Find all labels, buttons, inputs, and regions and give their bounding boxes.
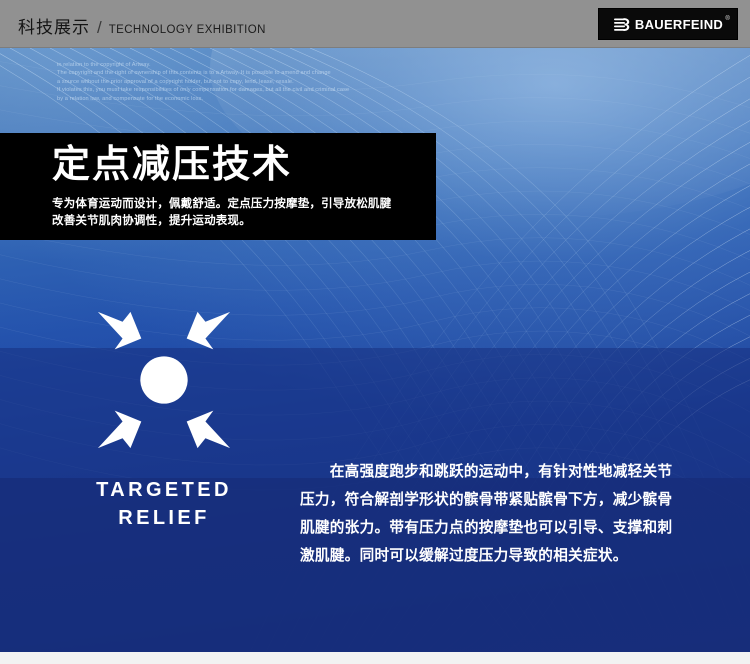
feature-icon-block: TARGETED RELIEF [78,306,250,532]
brand-logo: BAUERFEIND ® [598,8,738,40]
headline-box: 定点减压技术 专为体育运动而设计，佩戴舒适。定点压力按摩垫，引导放松肌腱 改善关… [0,133,436,240]
feature-description: 在高强度跑步和跳跃的运动中，有针对性地减轻关节 压力，符合解剖学形状的髌骨带紧贴… [300,458,694,570]
brand-name: BAUERFEIND [635,17,723,32]
brand-logo-inner: BAUERFEIND ® [613,16,723,33]
footer-strip [0,652,750,664]
targeted-arrows-converging-icon [90,306,238,454]
header-title-group: 科技展示 / TECHNOLOGY EXHIBITION [18,13,266,38]
copyright-fineprint: in relation to the copyright of Artway. … [57,61,429,103]
feature-icon-caption: TARGETED RELIEF [78,476,250,532]
page-header: 科技展示 / TECHNOLOGY EXHIBITION BAUERFEIND … [0,0,750,48]
header-title-separator: / [97,18,102,38]
promo-banner-page: 科技展示 / TECHNOLOGY EXHIBITION BAUERFEIND … [0,0,750,664]
bauerfeind-b-mark-icon [613,16,630,33]
brand-logo-text: BAUERFEIND ® [635,18,723,31]
header-title-cn: 科技展示 [18,13,90,38]
hero-panel: in relation to the copyright of Artway. … [0,48,750,652]
headline-subtitle: 专为体育运动而设计，佩戴舒适。定点压力按摩垫，引导放松肌腱 改善关节肌肉协调性，… [52,195,422,229]
headline-cn: 定点减压技术 [52,143,292,186]
header-title-en: TECHNOLOGY EXHIBITION [109,24,266,36]
registered-trademark-icon: ® [725,16,730,22]
